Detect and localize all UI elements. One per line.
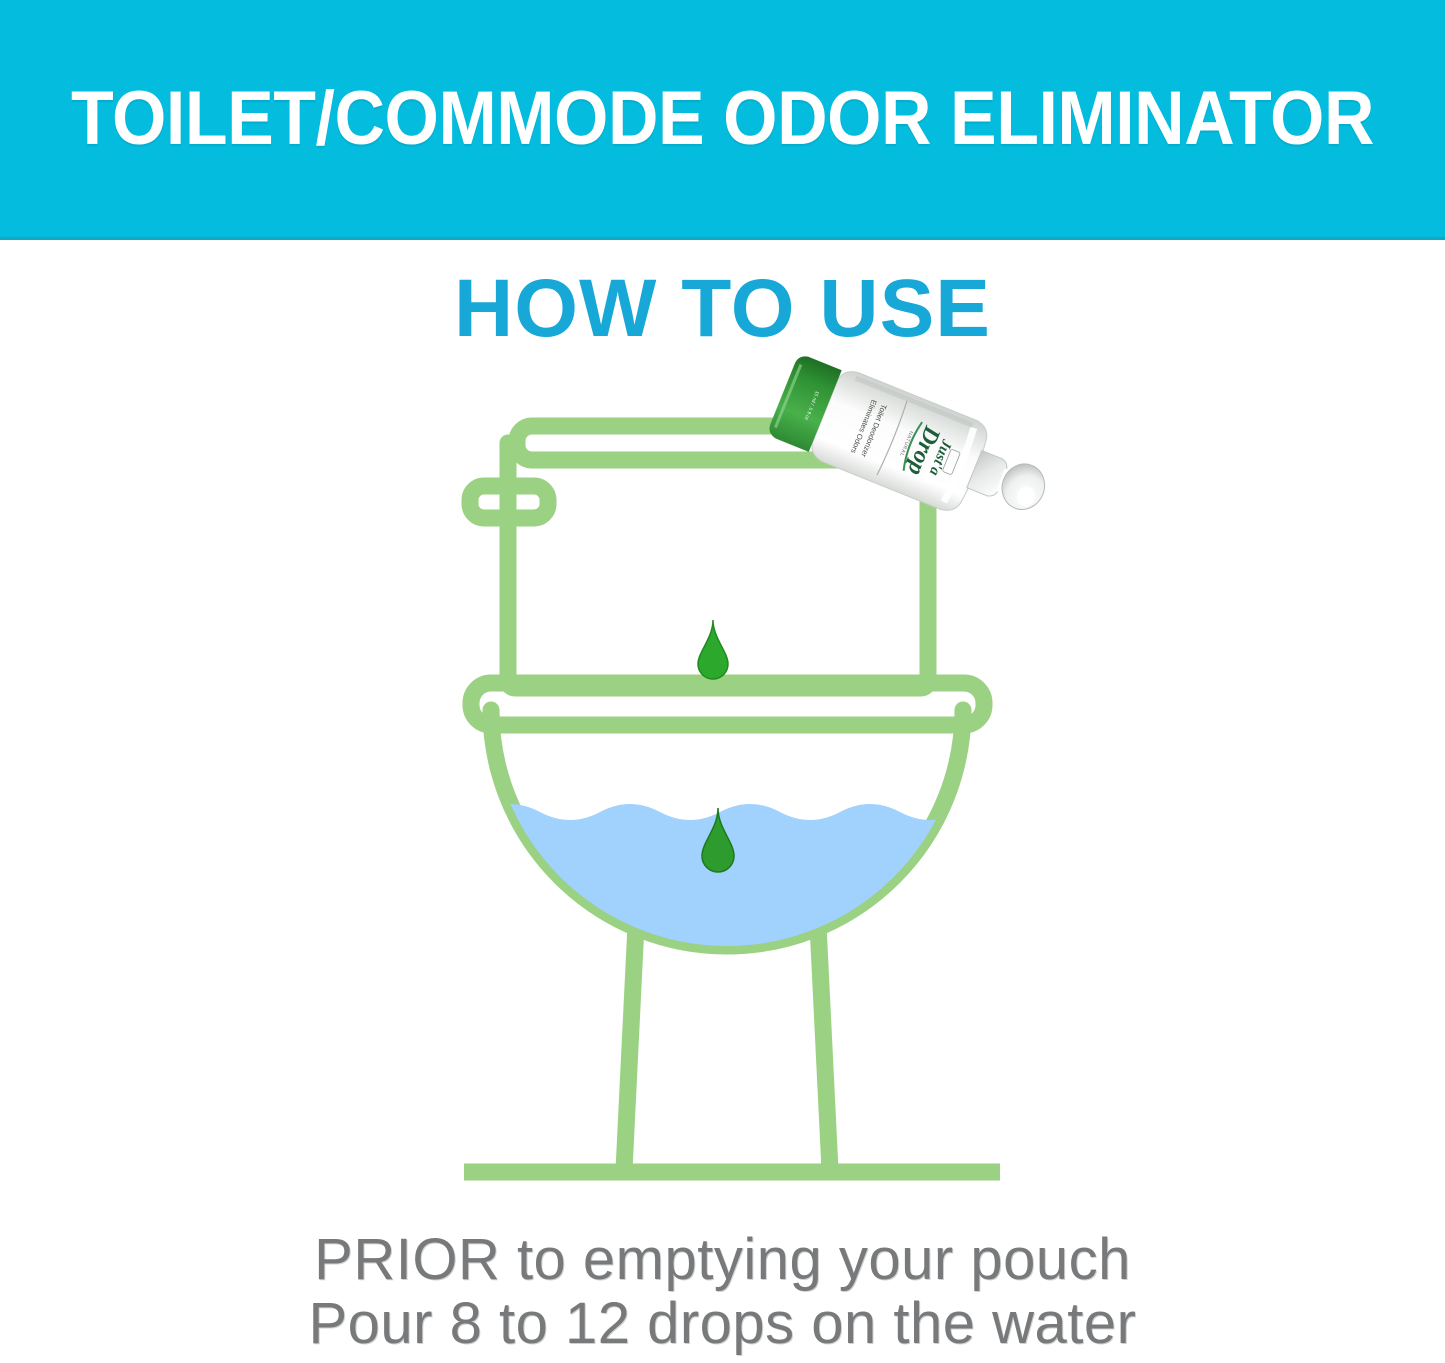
product-infographic: TOILET/COMMODE ODOR ELIMINATOR HOW TO US… [0, 0, 1445, 1363]
tank-lid [517, 426, 923, 460]
instructions-caption: PRIOR to emptying your pouch Pour 8 to 1… [0, 1228, 1445, 1356]
pedestal-leg-right [818, 925, 830, 1170]
section-heading-how-to-use: HOW TO USE [0, 268, 1445, 350]
toilet-seat [471, 683, 984, 725]
pedestal-leg-left [624, 925, 636, 1170]
instruction-line-1: PRIOR to emptying your pouch [0, 1228, 1445, 1292]
page-title: TOILET/COMMODE ODOR ELIMINATOR [58, 0, 1387, 237]
toilet-illustration [0, 380, 1445, 1200]
header-banner: TOILET/COMMODE ODOR ELIMINATOR [0, 0, 1445, 240]
falling-drop [698, 620, 728, 679]
instruction-line-2: Pour 8 to 12 drops on the water [0, 1292, 1445, 1356]
